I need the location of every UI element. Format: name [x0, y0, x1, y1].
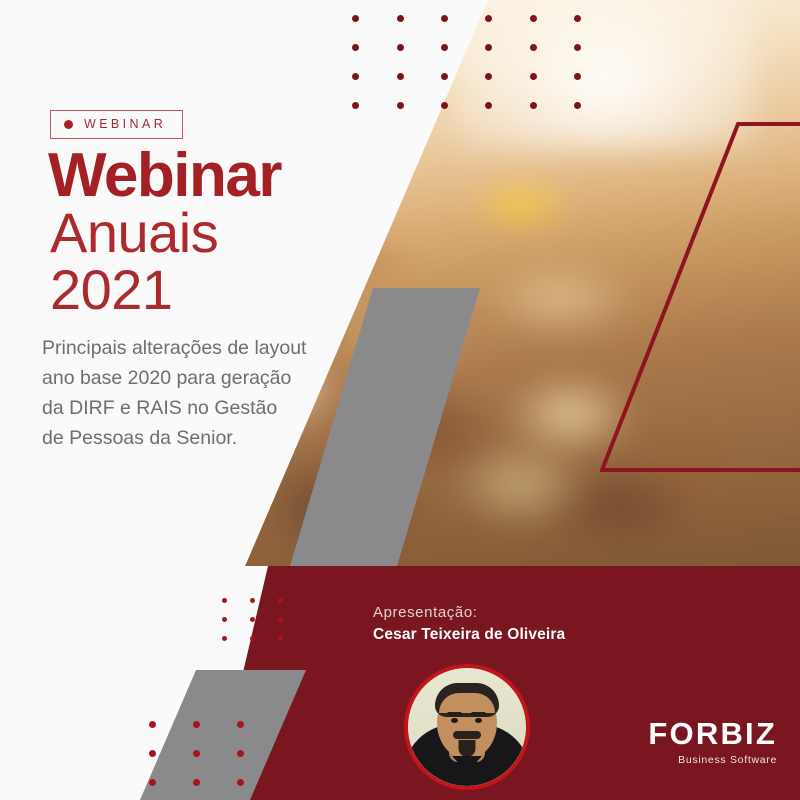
avatar-photo: [408, 668, 526, 786]
dot-icon: [64, 120, 73, 129]
avatar-brow-right: [471, 712, 486, 716]
avatar-moustache: [453, 731, 481, 739]
avatar-hair: [435, 683, 499, 717]
presenter-label: Apresentação:: [373, 604, 478, 621]
avatar-eye-right: [475, 718, 482, 723]
avatar-brow-left: [447, 712, 462, 716]
presenter-name: Cesar Teixeira de Oliveira: [373, 626, 565, 644]
description-line-1: Principais alterações de layout: [42, 333, 352, 363]
forbiz-logo-name: FORBIZ: [617, 718, 777, 749]
title-line-1: Webinar: [48, 145, 281, 207]
webinar-badge-label: WEBINAR: [84, 118, 166, 131]
description-line-3: da DIRF e RAIS no Gestão: [42, 393, 352, 423]
description-line-2: ano base 2020 para geração: [42, 363, 352, 393]
title-line-3: 2021: [50, 262, 173, 318]
avatar: [404, 664, 530, 790]
avatar-goatee: [459, 740, 476, 757]
description-text: Principais alterações de layout ano base…: [42, 333, 352, 453]
avatar-eye-left: [451, 718, 458, 723]
webinar-poster: WEBINAR Webinar Anuais 2021 Principais a…: [0, 0, 800, 800]
forbiz-logo-tagline: Business Software: [617, 755, 777, 766]
description-line-4: de Pessoas da Senior.: [42, 423, 352, 453]
forbiz-logo: FORBIZ Business Software: [617, 718, 777, 766]
webinar-badge: WEBINAR: [50, 110, 183, 139]
title-line-2: Anuais: [50, 205, 218, 261]
